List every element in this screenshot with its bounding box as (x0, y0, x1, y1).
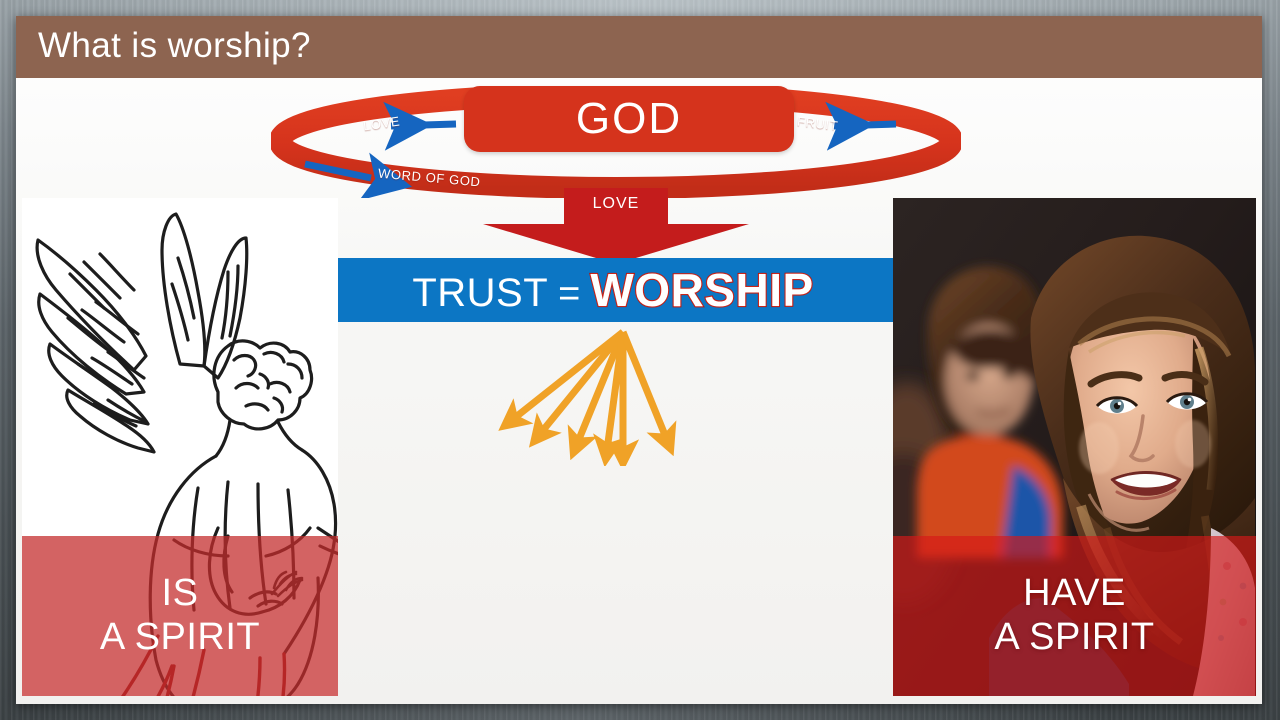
trust-label: TRUST (412, 273, 548, 313)
god-label: GOD (576, 97, 682, 141)
right-caption-line-1: HAVE (1023, 572, 1126, 616)
right-panel-caption: HAVE A SPIRIT (893, 536, 1256, 696)
title-bar: What is worship? (16, 16, 1262, 78)
right-panel: HAVE A SPIRIT (893, 198, 1256, 696)
worship-banner: TRUST = WORSHIP (331, 258, 895, 322)
right-caption-line-2: A SPIRIT (994, 616, 1154, 660)
cycle-diagram: LOVE FRUIT WORD OF GOD GOD (271, 86, 961, 198)
god-plate: GOD (464, 86, 794, 152)
left-panel-caption: IS A SPIRIT (22, 536, 338, 696)
love-down-arrow: LOVE (483, 188, 749, 264)
fan-arrows-graphic (486, 326, 716, 466)
love-down-arrow-label: LOVE (483, 195, 749, 213)
left-panel: IS A SPIRIT (22, 198, 338, 696)
left-caption-line-2: A SPIRIT (100, 616, 260, 660)
equals-sign: = (558, 275, 580, 313)
left-caption-line-1: IS (162, 572, 199, 616)
page-title: What is worship? (38, 26, 311, 66)
worship-banner-inner: TRUST = WORSHIP (412, 267, 813, 313)
worship-label: WORSHIP (590, 267, 813, 313)
love-arrow-icon (391, 124, 456, 126)
slide-root: What is worship? (0, 0, 1280, 720)
fruit-arrow-icon (833, 124, 896, 126)
slide-content: LOVE FRUIT WORD OF GOD GOD LOVE TRUST = … (16, 78, 1262, 704)
